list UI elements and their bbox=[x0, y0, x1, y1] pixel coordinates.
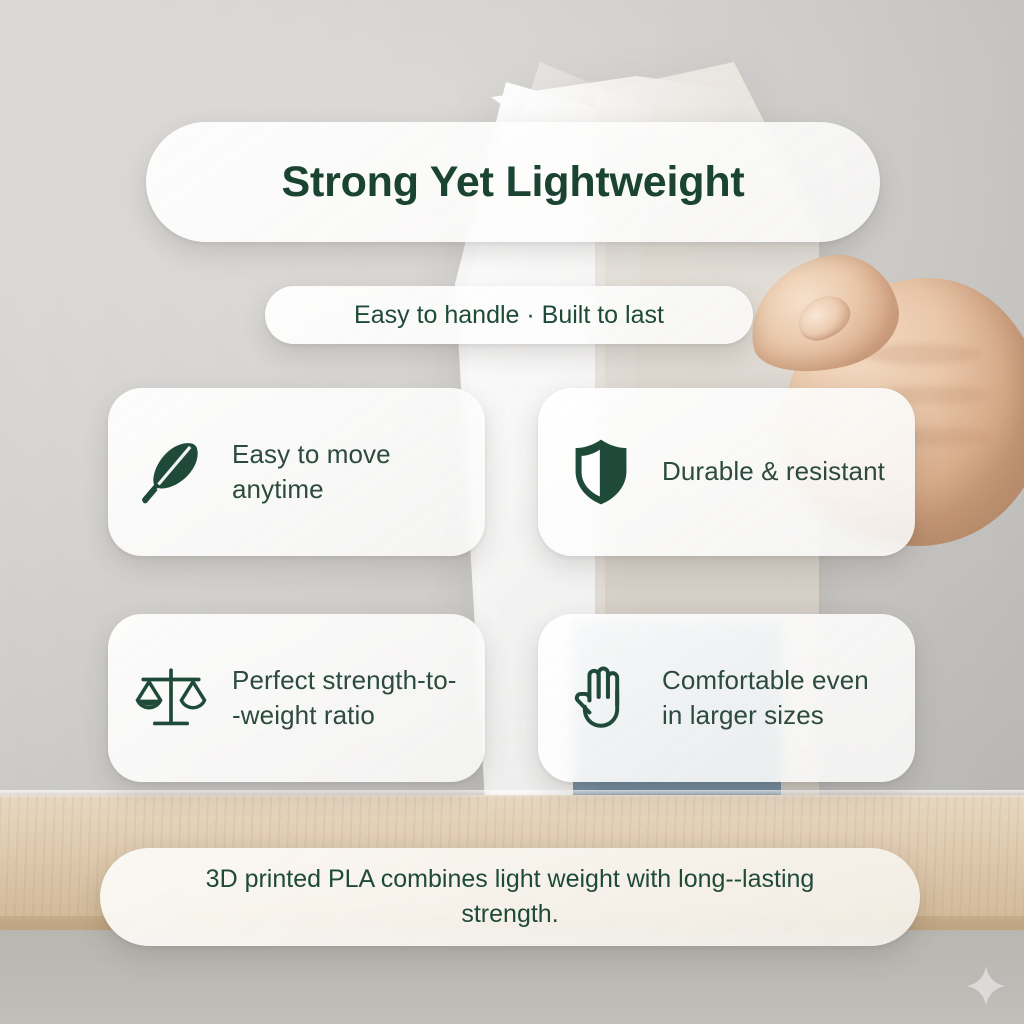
feature-card-durable[interactable]: Durable & resistant bbox=[538, 388, 915, 556]
footer-banner: 3D printed PLA combines light weight wit… bbox=[100, 848, 920, 946]
feature-card-strength-to-weight[interactable]: Perfect strength-to--weight ratio bbox=[108, 614, 485, 782]
footer-text: 3D printed PLA combines light weight wit… bbox=[160, 862, 860, 933]
balance-scale-icon bbox=[132, 659, 210, 737]
sparkle-icon bbox=[964, 964, 1008, 1008]
feature-label: Perfect strength-to--weight ratio bbox=[232, 663, 461, 734]
open-hand-icon bbox=[562, 659, 640, 737]
feature-card-comfortable[interactable]: Comfortable even in larger sizes bbox=[538, 614, 915, 782]
poster-canvas: Strong Yet Lightweight Easy to handle · … bbox=[0, 0, 1024, 1024]
shield-icon bbox=[562, 433, 640, 511]
feather-icon bbox=[132, 433, 210, 511]
feature-label: Durable & resistant bbox=[662, 454, 885, 489]
feature-card-easy-to-move[interactable]: Easy to move anytime bbox=[108, 388, 485, 556]
feature-label: Easy to move anytime bbox=[232, 437, 461, 508]
feature-label: Comfortable even in larger sizes bbox=[662, 663, 891, 734]
